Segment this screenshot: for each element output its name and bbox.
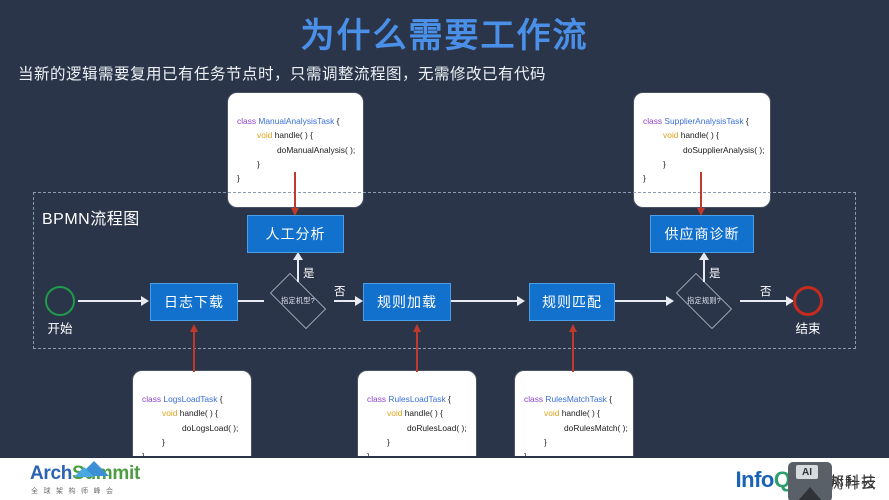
code-method-signature: handle( ) { <box>562 408 600 418</box>
slide-footer: ArchSummit 全球架构师峰会 InfoQ 极客邦科技 树叶云 AI <box>0 456 889 500</box>
code-method-signature: handle( ) { <box>405 408 443 418</box>
gateway-model[interactable]: 指定机型? <box>262 281 334 321</box>
gateway-model-label: 指定机型? <box>262 281 334 321</box>
archsummit-subtitle: 全球架构师峰会 <box>31 486 140 496</box>
code-class-name: ManualAnalysisTask <box>258 116 334 126</box>
edge-model-gateway-yes <box>297 258 299 282</box>
code-keyword-void: void <box>257 130 272 140</box>
code-brace-close-outer: } <box>643 173 646 183</box>
code-brace-open: { <box>746 116 749 126</box>
node-manual-analysis-label: 人工分析 <box>266 224 326 244</box>
node-logs-download[interactable]: 日志下载 <box>150 283 238 321</box>
code-keyword-class: class <box>237 116 256 126</box>
start-event-node[interactable] <box>45 286 75 316</box>
link-rules-load-arrow <box>413 324 421 332</box>
edge-start-to-logs-download <box>78 300 143 302</box>
link-logs-load-arrow <box>190 324 198 332</box>
node-supplier-diagnosis-label: 供应商诊断 <box>665 224 740 244</box>
node-supplier-diagnosis[interactable]: 供应商诊断 <box>650 215 754 253</box>
code-keyword-void: void <box>162 408 177 418</box>
infoq-info-text: Info <box>736 467 774 493</box>
code-class-name: RulesMatchTask <box>545 394 606 404</box>
code-class-name: SupplierAnalysisTask <box>664 116 743 126</box>
gateway-rule[interactable]: 指定规则? <box>668 281 740 321</box>
node-logs-download-label: 日志下载 <box>164 292 224 312</box>
edge-rules-match-to-rule-gateway <box>615 300 670 302</box>
edge-rule-gateway-yes <box>703 258 705 282</box>
code-keyword-class: class <box>524 394 543 404</box>
edge-logs-download-to-model-gateway <box>238 300 264 302</box>
edge-rules-load-arrow <box>517 296 525 306</box>
link-logs-load <box>193 327 195 372</box>
link-rules-match <box>572 327 574 372</box>
node-rules-load-label: 规则加载 <box>377 292 437 312</box>
code-box-supplier-analysis-task: class SupplierAnalysisTask { void handle… <box>634 93 770 207</box>
edge-model-gateway-yes-arrow <box>293 252 303 260</box>
code-keyword-class: class <box>367 394 386 404</box>
edge-label-model-gateway-yes: 是 <box>303 265 315 281</box>
code-class-name: LogsLoadTask <box>163 394 217 404</box>
code-brace-close-inner: } <box>643 157 666 171</box>
archsummit-arch-text: Arch <box>30 463 72 484</box>
ai-badge-label: AI <box>796 465 818 479</box>
watermark-mountain-icon <box>797 487 823 500</box>
shuyeyun-watermark-text: 树叶云 <box>829 472 877 493</box>
start-event-label: 开始 <box>35 318 85 337</box>
edge-start-arrow <box>141 296 149 306</box>
mountain-icon-secondary <box>74 467 94 477</box>
code-body: doLogsLoad( ); <box>142 421 238 435</box>
code-brace-close-inner: } <box>524 435 547 449</box>
code-keyword-void: void <box>663 130 678 140</box>
node-rules-match-label: 规则匹配 <box>542 292 602 312</box>
code-method-signature: handle( ) { <box>275 130 313 140</box>
page-title: 为什么需要工作流 <box>0 8 889 57</box>
edge-label-model-gateway-no: 否 <box>334 283 346 299</box>
code-brace-open: { <box>609 394 612 404</box>
code-method-signature: handle( ) { <box>180 408 218 418</box>
code-brace-close-inner: } <box>237 157 260 171</box>
node-manual-analysis[interactable]: 人工分析 <box>247 215 344 253</box>
code-keyword-void: void <box>544 408 559 418</box>
code-brace-close-outer: } <box>237 173 240 183</box>
edge-rule-gateway-no <box>740 300 788 302</box>
edge-label-rule-gateway-yes: 是 <box>709 265 721 281</box>
code-class-name: RulesLoadTask <box>388 394 445 404</box>
code-brace-open: { <box>448 394 451 404</box>
code-brace-open: { <box>220 394 223 404</box>
link-manual-analysis <box>294 172 296 210</box>
edge-rules-load-to-rules-match <box>451 300 519 302</box>
end-event-node[interactable] <box>793 286 823 316</box>
code-method-signature: handle( ) { <box>681 130 719 140</box>
code-brace-close-inner: } <box>367 435 390 449</box>
code-brace-close-inner: } <box>142 435 165 449</box>
link-rules-load <box>416 327 418 372</box>
page-subtitle: 当新的逻辑需要复用已有任务节点时，只需调整流程图，无需修改已有代码 <box>18 62 546 84</box>
edge-model-gateway-no-arrow <box>355 296 363 306</box>
bpmn-region-label: BPMN流程图 <box>42 205 140 229</box>
code-body: doRulesLoad( ); <box>367 421 467 435</box>
slide-canvas: 为什么需要工作流 当新的逻辑需要复用已有任务节点时，只需调整流程图，无需修改已有… <box>0 0 889 500</box>
end-event-label: 结束 <box>783 318 833 337</box>
edge-label-rule-gateway-no: 否 <box>760 283 772 299</box>
node-rules-match[interactable]: 规则匹配 <box>529 283 615 321</box>
code-body: doManualAnalysis( ); <box>237 143 355 157</box>
ai-image-watermark-icon: AI <box>788 462 832 500</box>
gateway-rule-label: 指定规则? <box>668 281 740 321</box>
code-brace-open: { <box>337 116 340 126</box>
archsummit-logo: ArchSummit 全球架构师峰会 <box>30 463 140 496</box>
edge-rule-gateway-yes-arrow <box>699 252 709 260</box>
link-rules-match-arrow <box>569 324 577 332</box>
node-rules-load[interactable]: 规则加载 <box>363 283 451 321</box>
code-body: doSupplierAnalysis( ); <box>643 143 764 157</box>
code-keyword-class: class <box>643 116 662 126</box>
code-keyword-void: void <box>387 408 402 418</box>
code-body: doRulesMatch( ); <box>524 421 628 435</box>
link-supplier-analysis <box>700 172 702 210</box>
code-keyword-class: class <box>142 394 161 404</box>
